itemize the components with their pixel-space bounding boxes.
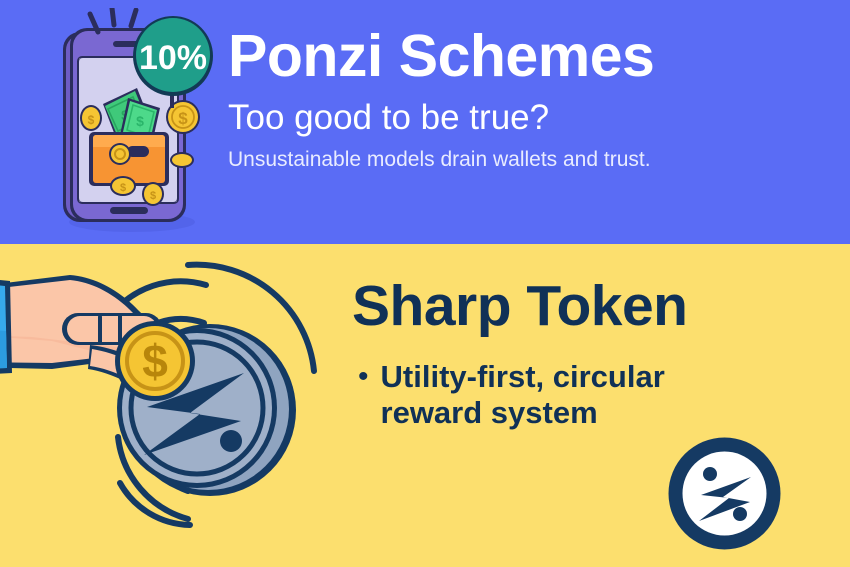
svg-text:$: $ (120, 182, 126, 194)
hand-inserting-coin-into-token-illustration: $ (0, 255, 342, 555)
promo-banner: $ $ (0, 0, 850, 567)
svg-text:$: $ (178, 109, 188, 128)
feature-bullet-item: • Utility-first, circular reward system (358, 359, 832, 432)
dollar-coin: $ (115, 321, 195, 401)
sharp-token-title: Sharp Token (352, 277, 832, 337)
svg-text:$: $ (136, 113, 144, 129)
feature-bullet-text: Utility-first, circular reward system (381, 359, 751, 432)
ponzi-schemes-section: $ $ (0, 0, 850, 244)
svg-text:$: $ (88, 113, 95, 127)
ponzi-subtitle: Too good to be true? (228, 98, 838, 138)
ponzi-title: Ponzi Schemes (228, 26, 838, 88)
bullet-marker-icon: • (358, 359, 369, 395)
svg-text:$: $ (142, 335, 168, 387)
sharp-token-section: Sharp Token • Utility-first, circular re… (0, 244, 850, 567)
sharp-token-text-block: Sharp Token • Utility-first, circular re… (352, 277, 832, 432)
ponzi-text-block: Ponzi Schemes Too good to be true? Unsus… (228, 26, 838, 172)
svg-text:10%: 10% (139, 39, 207, 77)
sharp-token-logo[interactable] (668, 437, 781, 550)
svg-text:$: $ (150, 190, 156, 202)
ponzi-tagline: Unsustainable models drain wallets and t… (228, 147, 838, 172)
phone-wallet-money-illustration: $ $ (40, 8, 245, 236)
